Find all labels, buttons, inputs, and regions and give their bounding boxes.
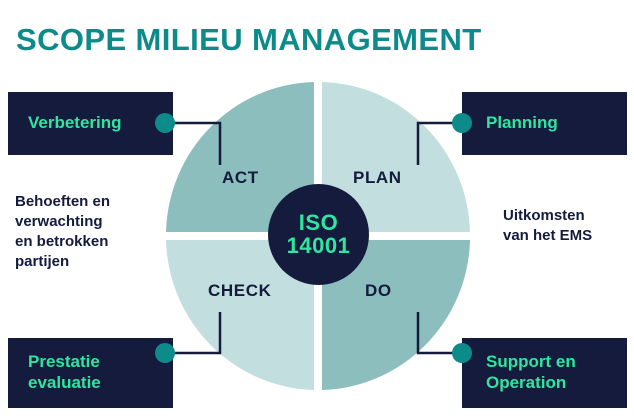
scope-milieu-management-diagram: SCOPE MILIEU MANAGEMENT ACT PLAN CHECK D… [0, 0, 634, 419]
label-box-verbetering-text: Verbetering [28, 113, 122, 134]
label-box-prestatie-evaluatie[interactable]: Prestatie evaluatie [8, 338, 173, 408]
label-box-support-en-operation-text: Support en Operation [486, 352, 576, 393]
connector-dot-prestatie-evaluatie [155, 343, 175, 363]
center-hub-iso-14001: ISO 14001 [268, 184, 369, 285]
side-text-uitkomsten: Uitkomsten van het EMS [503, 206, 631, 246]
page-title: SCOPE MILIEU MANAGEMENT [16, 22, 482, 58]
connector-dot-verbetering [155, 113, 175, 133]
quadrant-label-do: DO [365, 281, 392, 301]
quadrant-label-check: CHECK [208, 281, 271, 301]
quadrant-label-plan: PLAN [353, 168, 402, 188]
hub-label-14001: 14001 [287, 235, 351, 257]
connector-dot-planning [452, 113, 472, 133]
connector-dot-support-en-operation [452, 343, 472, 363]
label-box-planning[interactable]: Planning [462, 92, 627, 155]
label-box-support-en-operation[interactable]: Support en Operation [462, 338, 627, 408]
side-text-behoeften: Behoeften en verwachting en betrokken pa… [15, 192, 175, 272]
label-box-prestatie-evaluatie-text: Prestatie evaluatie [28, 352, 101, 393]
quadrant-label-act: ACT [222, 168, 259, 188]
hub-label-iso: ISO [299, 212, 338, 234]
label-box-planning-text: Planning [486, 113, 558, 134]
label-box-verbetering[interactable]: Verbetering [8, 92, 173, 155]
